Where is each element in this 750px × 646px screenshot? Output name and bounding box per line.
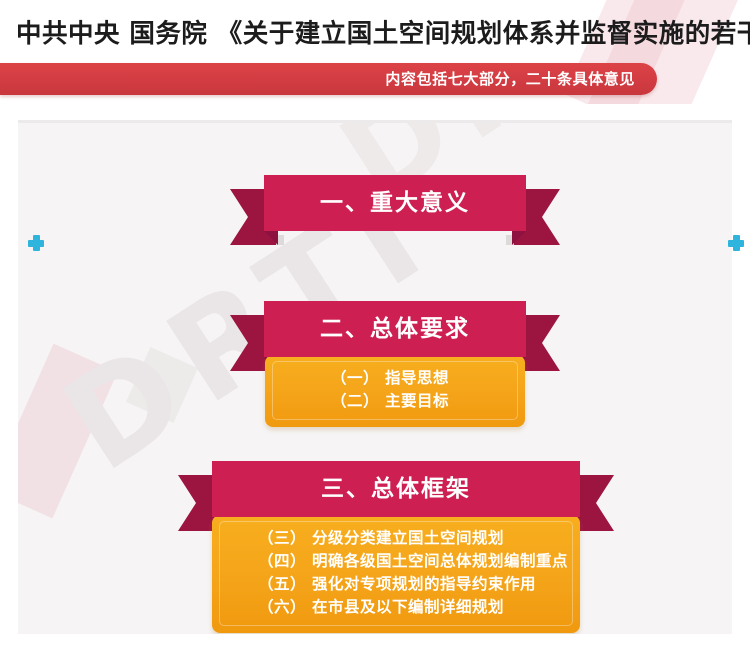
corner-marker-right-icon: [728, 235, 744, 251]
section-block-1: 一、重大意义: [230, 175, 560, 231]
item-label: 在市县及以下编制详细规划: [312, 598, 504, 616]
item-number: （二）: [331, 392, 379, 410]
header: 中共中央 国务院 《关于建立国土空间规划体系并监督实施的若干意见》 内容包括七大…: [0, 0, 750, 104]
section-heading-1: 一、重大意义: [264, 175, 526, 231]
infographic-page: 中共中央 国务院 《关于建立国土空间规划体系并监督实施的若干意见》 内容包括七大…: [0, 0, 750, 646]
item-number: （一）: [331, 369, 379, 387]
page-title: 中共中央 国务院 《关于建立国土空间规划体系并监督实施的若干意见》: [16, 17, 746, 51]
subtitle-text: 内容包括七大部分，二十条具体意见: [385, 63, 635, 95]
corner-marker-left-icon: [28, 235, 44, 251]
section-heading-3: 三、总体框架: [212, 461, 580, 517]
section-card-3: （三）分级分类建立国土空间规划 （四）明确各级国土空间总体规划编制重点 （五）强…: [212, 515, 580, 633]
section-heading-2: 二、总体要求: [264, 301, 526, 357]
watermark-gray-shape: [126, 347, 198, 423]
item-number: （三）: [258, 529, 306, 547]
list-item[interactable]: （二）主要目标: [331, 390, 525, 413]
section-card-2: （一）指导思想 （二）主要目标: [265, 355, 525, 427]
section-ribbon-2[interactable]: 二、总体要求: [230, 301, 560, 357]
list-item[interactable]: （一）指导思想: [331, 367, 525, 390]
section-item-list-3: （三）分级分类建立国土空间规划 （四）明确各级国土空间总体规划编制重点 （五）强…: [212, 527, 580, 619]
section-ribbon-3[interactable]: 三、总体框架: [178, 461, 614, 517]
content-panel-inner: DRTI DRTI 一、重大意义: [18, 123, 732, 634]
item-label: 分级分类建立国土空间规划: [312, 529, 504, 547]
section-block-2: 二、总体要求 （一）指导思想 （二）主要目标: [230, 301, 560, 427]
item-number: （六）: [258, 598, 306, 616]
section-ribbon-1[interactable]: 一、重大意义: [230, 175, 560, 231]
watermark-pink-shape: [18, 344, 118, 519]
list-item[interactable]: （四）明确各级国土空间总体规划编制重点: [258, 550, 580, 573]
list-item[interactable]: （五）强化对专项规划的指导约束作用: [258, 573, 580, 596]
item-number: （四）: [258, 552, 306, 570]
list-item[interactable]: （三）分级分类建立国土空间规划: [258, 527, 580, 550]
item-label: 主要目标: [385, 392, 449, 410]
item-label: 强化对专项规划的指导约束作用: [312, 575, 536, 593]
list-item[interactable]: （六）在市县及以下编制详细规划: [258, 596, 580, 619]
section-item-list-2: （一）指导思想 （二）主要目标: [265, 367, 525, 413]
section-block-3: 三、总体框架 （三）分级分类建立国土空间规划 （四）明确各级国土空间总体规划编制…: [178, 461, 614, 633]
content-panel: DRTI DRTI 一、重大意义: [18, 120, 732, 634]
item-number: （五）: [258, 575, 306, 593]
item-label: 明确各级国土空间总体规划编制重点: [312, 552, 568, 570]
item-label: 指导思想: [385, 369, 449, 387]
subtitle-banner: 内容包括七大部分，二十条具体意见: [0, 63, 657, 95]
